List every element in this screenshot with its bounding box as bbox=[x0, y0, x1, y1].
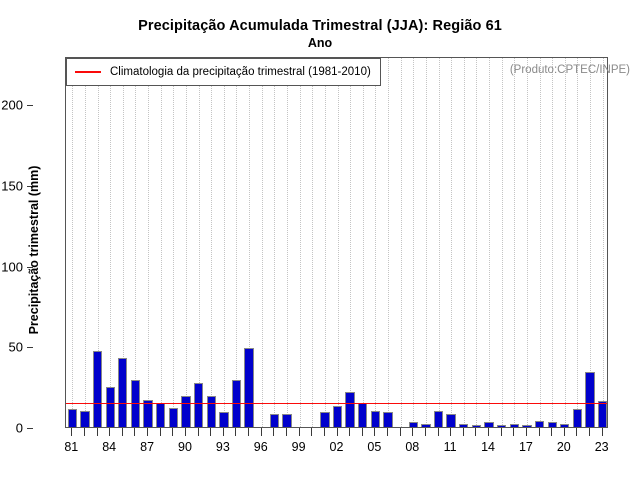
x-axis-tick-label: 23 bbox=[595, 440, 609, 454]
bar-2010 bbox=[434, 411, 443, 427]
x-axis-tick-label: 08 bbox=[405, 440, 419, 454]
x-axis-tick-mark bbox=[147, 428, 148, 436]
grid-line-vertical bbox=[464, 58, 465, 427]
grid-line-vertical bbox=[135, 58, 136, 427]
y-axis-tick-label: 150 bbox=[1, 179, 23, 194]
grid-line-vertical bbox=[325, 58, 326, 427]
grid-line-vertical bbox=[603, 58, 604, 427]
grid-line-vertical bbox=[186, 58, 187, 427]
bar-2012 bbox=[459, 424, 468, 427]
grid-line-vertical bbox=[552, 58, 553, 427]
x-axis-tick-mark bbox=[362, 428, 363, 436]
x-axis-tick-mark bbox=[273, 428, 274, 436]
x-axis-tick-mark bbox=[513, 428, 514, 436]
x-axis-tick-label: 90 bbox=[178, 440, 192, 454]
x-axis-tick-mark bbox=[337, 428, 338, 436]
grid-line-vertical bbox=[350, 58, 351, 427]
x-axis-tick-mark bbox=[248, 428, 249, 436]
bar-2020 bbox=[560, 424, 569, 427]
x-axis-tick-mark bbox=[286, 428, 287, 436]
grid-line-vertical bbox=[300, 58, 301, 427]
x-axis-tick-mark bbox=[160, 428, 161, 436]
grid-line-vertical bbox=[148, 58, 149, 427]
x-axis-tick-mark bbox=[349, 428, 350, 436]
bar-2001 bbox=[320, 412, 329, 427]
bar-1995 bbox=[244, 348, 253, 427]
x-axis-tick-mark bbox=[235, 428, 236, 436]
grid-line-vertical bbox=[514, 58, 515, 427]
bar-1985 bbox=[118, 358, 127, 427]
grid-line-vertical bbox=[439, 58, 440, 427]
x-axis-tick-mark bbox=[450, 428, 451, 436]
grid-line-vertical bbox=[72, 58, 73, 427]
x-axis-tick-mark bbox=[576, 428, 577, 436]
bar-2003 bbox=[345, 392, 354, 427]
grid-line-vertical bbox=[577, 58, 578, 427]
x-axis-tick-label: 96 bbox=[254, 440, 268, 454]
x-axis-tick-mark bbox=[475, 428, 476, 436]
x-axis-tick-mark bbox=[172, 428, 173, 436]
bar-2021 bbox=[573, 409, 582, 427]
x-axis-tick-mark bbox=[71, 428, 72, 436]
x-axis-tick-mark bbox=[97, 428, 98, 436]
bar-2014 bbox=[484, 422, 493, 427]
chart-title: Precipitação Acumulada Trimestral (JJA):… bbox=[0, 18, 640, 34]
x-axis-tick-mark bbox=[299, 428, 300, 436]
grid-line-vertical bbox=[199, 58, 200, 427]
bar-2004 bbox=[358, 403, 367, 427]
bar-2009 bbox=[421, 424, 430, 427]
grid-line-vertical bbox=[489, 58, 490, 427]
grid-line-vertical bbox=[110, 58, 111, 427]
x-axis-tick-label: 99 bbox=[292, 440, 306, 454]
grid-line-vertical bbox=[224, 58, 225, 427]
grid-line-vertical bbox=[274, 58, 275, 427]
grid-line-vertical bbox=[338, 58, 339, 427]
x-axis-tick-mark bbox=[488, 428, 489, 436]
bar-1982 bbox=[80, 411, 89, 427]
y-axis-tick-label: 100 bbox=[1, 259, 23, 274]
x-axis-tick-mark bbox=[261, 428, 262, 436]
x-axis-tick-mark bbox=[324, 428, 325, 436]
bar-2023 bbox=[598, 401, 607, 427]
climatology-reference-line bbox=[66, 403, 607, 404]
grid-line-vertical bbox=[363, 58, 364, 427]
bar-1990 bbox=[181, 396, 190, 427]
grid-line-vertical bbox=[451, 58, 452, 427]
y-axis-title: Precipitação trimestral (mm) bbox=[27, 100, 41, 400]
x-axis-tick-mark bbox=[463, 428, 464, 436]
bar-2022 bbox=[585, 372, 594, 427]
bar-1997 bbox=[270, 414, 279, 427]
bar-2011 bbox=[446, 414, 455, 427]
x-axis-tick-mark bbox=[185, 428, 186, 436]
x-axis-tick-mark bbox=[109, 428, 110, 436]
x-axis-tick-mark bbox=[589, 428, 590, 436]
bar-2018 bbox=[535, 421, 544, 427]
legend-line-swatch bbox=[75, 71, 101, 73]
x-axis-tick-mark bbox=[311, 428, 312, 436]
x-axis-tick-label: 20 bbox=[557, 440, 571, 454]
x-axis-tick-mark bbox=[564, 428, 565, 436]
x-axis-tick-label: 05 bbox=[367, 440, 381, 454]
bar-1998 bbox=[282, 414, 291, 427]
x-axis: 818487909396990205081114172023 bbox=[0, 428, 640, 500]
bar-2015 bbox=[497, 425, 506, 427]
bar-1989 bbox=[169, 408, 178, 427]
bar-2005 bbox=[371, 411, 380, 427]
x-axis-tick-mark bbox=[539, 428, 540, 436]
x-axis-tick-mark bbox=[412, 428, 413, 436]
bar-1993 bbox=[219, 412, 228, 427]
bar-2006 bbox=[383, 412, 392, 427]
grid-line-vertical bbox=[375, 58, 376, 427]
x-axis-tick-label: 93 bbox=[216, 440, 230, 454]
grid-line-vertical bbox=[236, 58, 237, 427]
bar-2002 bbox=[333, 406, 342, 427]
x-axis-tick-mark bbox=[387, 428, 388, 436]
x-axis-tick-mark bbox=[198, 428, 199, 436]
legend-item-label: Climatologia da precipitação trimestral … bbox=[110, 66, 371, 78]
x-axis-tick-label: 84 bbox=[102, 440, 116, 454]
x-axis-tick-mark bbox=[425, 428, 426, 436]
x-axis-tick-mark bbox=[501, 428, 502, 436]
x-axis-tick-mark bbox=[526, 428, 527, 436]
y-axis-tick-label: 50 bbox=[9, 340, 23, 355]
x-axis-tick-mark bbox=[400, 428, 401, 436]
grid-line-vertical bbox=[388, 58, 389, 427]
grid-line-vertical bbox=[312, 58, 313, 427]
bar-2019 bbox=[548, 422, 557, 427]
grid-line-vertical bbox=[426, 58, 427, 427]
grid-line-vertical bbox=[565, 58, 566, 427]
grid-line-vertical bbox=[476, 58, 477, 427]
x-axis-tick-mark bbox=[122, 428, 123, 436]
grid-line-vertical bbox=[262, 58, 263, 427]
x-axis-tick-mark bbox=[223, 428, 224, 436]
bar-1988 bbox=[156, 403, 165, 427]
bar-1991 bbox=[194, 383, 203, 427]
bar-2016 bbox=[510, 424, 519, 427]
grid-line-vertical bbox=[502, 58, 503, 427]
grid-line-vertical bbox=[540, 58, 541, 427]
x-axis-tick-mark bbox=[134, 428, 135, 436]
x-axis-tick-label: 14 bbox=[481, 440, 495, 454]
x-axis-tick-label: 17 bbox=[519, 440, 533, 454]
bar-1992 bbox=[207, 396, 216, 427]
y-axis-tick-label: 200 bbox=[1, 98, 23, 113]
x-axis-tick-mark bbox=[602, 428, 603, 436]
plot-area bbox=[65, 57, 608, 428]
grid-line-vertical bbox=[413, 58, 414, 427]
x-axis-tick-mark bbox=[438, 428, 439, 436]
bar-1983 bbox=[93, 351, 102, 427]
x-axis-tick-mark bbox=[84, 428, 85, 436]
bar-1984 bbox=[106, 387, 115, 427]
grid-line-vertical bbox=[527, 58, 528, 427]
bar-2008 bbox=[409, 422, 418, 427]
x-axis-tick-label: 81 bbox=[64, 440, 78, 454]
grid-line-vertical bbox=[287, 58, 288, 427]
bar-1981 bbox=[68, 409, 77, 427]
x-axis-title: Ano bbox=[0, 36, 640, 50]
legend: Climatologia da precipitação trimestral … bbox=[66, 58, 381, 86]
x-axis-tick-label: 11 bbox=[444, 440, 457, 454]
x-axis-tick-mark bbox=[551, 428, 552, 436]
grid-line-vertical bbox=[85, 58, 86, 427]
grid-line-vertical bbox=[211, 58, 212, 427]
bar-2017 bbox=[522, 425, 531, 427]
x-axis-tick-mark bbox=[210, 428, 211, 436]
x-axis-tick-mark bbox=[374, 428, 375, 436]
grid-line-vertical bbox=[401, 58, 402, 427]
x-axis-tick-label: 87 bbox=[140, 440, 154, 454]
bar-2013 bbox=[472, 425, 481, 427]
product-credit-annotation: (Produto:CPTEC/INPE) bbox=[510, 64, 630, 76]
x-axis-tick-label: 02 bbox=[330, 440, 344, 454]
grid-line-vertical bbox=[161, 58, 162, 427]
grid-line-vertical bbox=[173, 58, 174, 427]
